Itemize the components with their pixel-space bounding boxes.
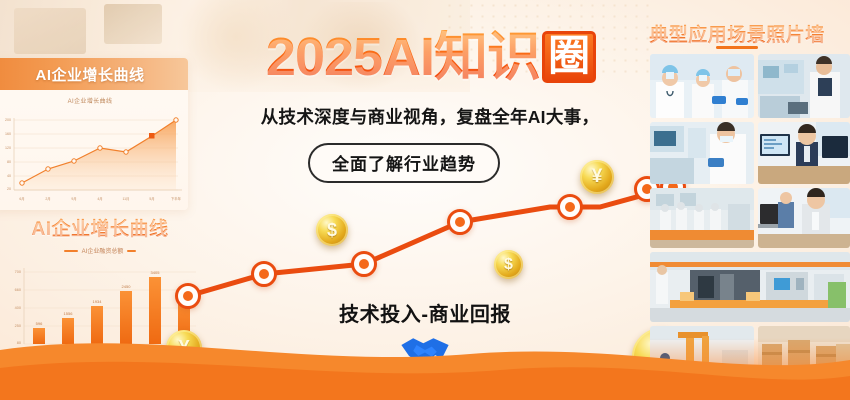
- trend-node-1[interactable]: [175, 283, 201, 309]
- headline-main-text: 2025AI知识: [266, 30, 540, 84]
- svg-text:2月: 2月: [45, 197, 50, 201]
- svg-text:700: 700: [15, 270, 21, 274]
- trend-node-dot-icon: [183, 291, 193, 301]
- photo-lab-technician[interactable]: [650, 122, 754, 184]
- svg-text:2450: 2450: [122, 284, 132, 289]
- coin-dollar-low: $: [494, 250, 523, 279]
- photo-cleanroom-floor[interactable]: [650, 188, 754, 248]
- coin-dollar-mid: $: [316, 214, 348, 246]
- trend-node-dot-icon: [565, 202, 575, 212]
- coin-yuan-upper: ¥: [580, 160, 614, 194]
- photo-desk-laptop[interactable]: [758, 188, 850, 248]
- svg-text:6月: 6月: [19, 197, 24, 201]
- photo-wall-title: 典型应用场景照片墙: [632, 20, 842, 47]
- svg-text:1934: 1934: [93, 299, 103, 304]
- trend-node-dot-icon: [359, 259, 369, 269]
- trend-line-svg: [160, 160, 700, 320]
- headline-boxed-char: 圈: [542, 31, 596, 83]
- svg-text:400: 400: [15, 306, 21, 310]
- svg-text:40: 40: [7, 174, 11, 178]
- svg-text:200: 200: [5, 118, 11, 122]
- trend-node-dot-icon: [455, 217, 465, 227]
- photo-assembly-line[interactable]: [650, 252, 850, 322]
- svg-text:160: 160: [5, 132, 11, 136]
- svg-text:660: 660: [15, 288, 21, 292]
- svg-text:11月: 11月: [123, 197, 130, 201]
- svg-text:20: 20: [7, 187, 11, 191]
- photo-office-analyst[interactable]: [758, 122, 850, 184]
- svg-text:9月: 9月: [71, 197, 76, 201]
- svg-text:80: 80: [7, 160, 11, 164]
- svg-text:120: 120: [5, 146, 11, 150]
- trend-node-3[interactable]: [351, 251, 377, 277]
- left-chart-caption: AI企业增长曲线: [0, 96, 188, 105]
- trend-node-4[interactable]: [447, 209, 473, 235]
- left-card-title: AI企业增长曲线: [35, 64, 144, 85]
- headline: 2025AI知识 圈: [196, 26, 666, 88]
- legend-label: AI企业融资总额: [82, 246, 124, 255]
- trend-node-dot-icon: [259, 269, 269, 279]
- photo-wall-underline: [716, 46, 758, 49]
- svg-text:3405: 3405: [151, 270, 161, 275]
- svg-text:4月: 4月: [97, 197, 102, 201]
- svg-text:5月: 5月: [149, 197, 154, 201]
- photo-engineer-console[interactable]: [758, 54, 850, 118]
- promo-banner: AI企业增长曲线 AI企业增长曲线: [0, 0, 850, 400]
- left-card-header: AI企业增长曲线: [0, 58, 188, 90]
- trend-node-2[interactable]: [251, 261, 277, 287]
- photo-medical-team[interactable]: [650, 54, 754, 118]
- bottom-wave: [0, 314, 850, 400]
- legend-dash-right-icon: [127, 250, 136, 252]
- trend-node-5[interactable]: [557, 194, 583, 220]
- subtitle: 从技术深度与商业视角，复盘全年AI大事，: [190, 104, 670, 129]
- legend-dash-left-icon: [64, 250, 78, 252]
- main-trend-chart: [160, 160, 700, 320]
